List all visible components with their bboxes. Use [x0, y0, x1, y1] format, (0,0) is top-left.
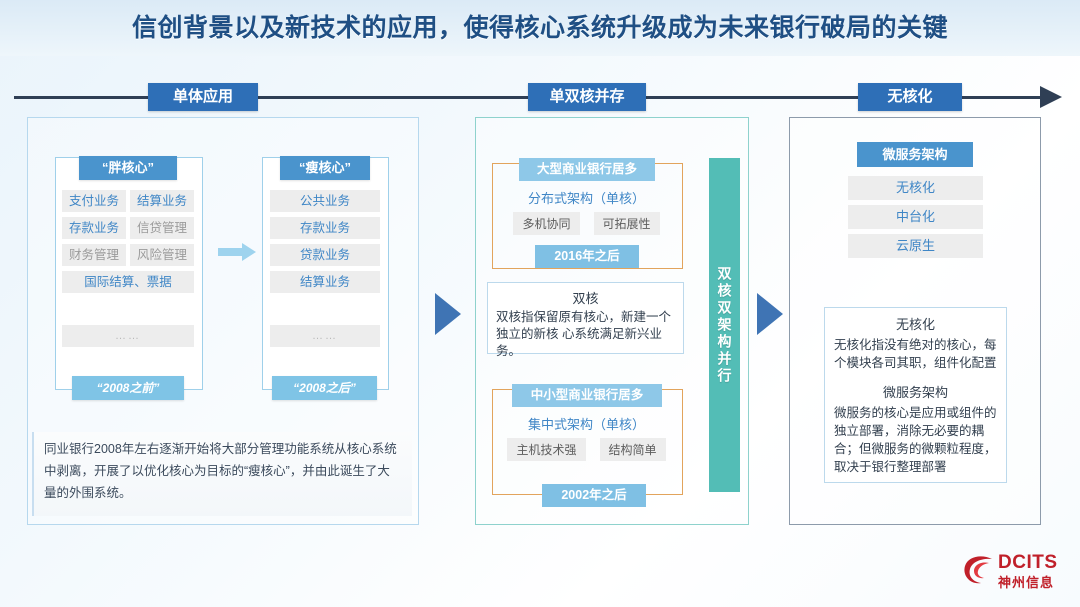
thin-core-header: “瘦核心” — [280, 156, 370, 180]
chip-item: 贷款业务 — [270, 244, 380, 266]
tag-item: 主机技术强 — [507, 438, 585, 461]
chip-item-empty — [270, 298, 380, 320]
chip-item: 信贷管理 — [130, 217, 194, 239]
stage-arrow-1-icon — [435, 293, 461, 335]
timeline-stage-0[interactable]: 单体应用 — [148, 83, 258, 111]
chip-item: 支付业务 — [62, 190, 126, 212]
large-bank-footer: 2016年之后 — [535, 245, 639, 268]
large-bank-tags: 多机协同 可拓展性 — [492, 212, 681, 235]
chip-item: 财务管理 — [62, 244, 126, 266]
microservice-header: 微服务架构 — [857, 142, 973, 167]
small-bank-footer: 2002年之后 — [542, 484, 646, 507]
chip-row — [62, 298, 194, 320]
chip-row: 国际结算、票据 — [62, 271, 194, 293]
logo-text-cn: 神州信息 — [998, 572, 1054, 591]
chip-row: 结算业务 — [270, 271, 380, 293]
chip-item: 结算业务 — [270, 271, 380, 293]
slide-root: 信创背景以及新技术的应用，使得核心系统升级成为未来银行破局的关键 单体应用 单双… — [0, 0, 1080, 607]
chip-item: 公共业务 — [270, 190, 380, 212]
chip-item: 风险管理 — [130, 244, 194, 266]
chip-row: …… — [270, 325, 380, 347]
panel-monolithic-caption: 同业银行2008年左右逐渐开始将大部分管理功能系统从核心系统中剥离，开展了以优化… — [32, 432, 412, 516]
chip-item-ellipsis: …… — [62, 325, 194, 347]
chip-row: 中台化 — [848, 205, 983, 229]
dcits-swirl-icon — [962, 553, 996, 587]
page-title: 信创背景以及新技术的应用，使得核心系统升级成为未来银行破局的关键 — [0, 8, 1080, 44]
chip-row: 云原生 — [848, 234, 983, 258]
fat-core-chip-list: 支付业务 结算业务 存款业务 信贷管理 财务管理 风险管理 国际结算、票据 …… — [62, 190, 194, 347]
chip-row: 存款业务 信贷管理 — [62, 217, 194, 239]
coreless-note: 无核化 无核化指没有绝对的核心，每个模块各司其职，组件化配置 微服务架构 微服务… — [824, 307, 1007, 483]
chip-row: 贷款业务 — [270, 244, 380, 266]
chip-row: …… — [62, 325, 194, 347]
small-bank-architecture: 集中式架构（单核） — [492, 414, 681, 433]
tag-item: 可拓展性 — [594, 212, 660, 235]
thin-core-footer: “2008之后” — [272, 376, 377, 400]
dual-core-note-title: 双核 — [496, 288, 675, 307]
coreless-note-body-2: 微服务的核心是应用或组件的独立部署，消除无必要的耦合；但微服务的微颗粒程度，取决… — [834, 404, 997, 476]
chip-item: 云原生 — [848, 234, 983, 258]
tag-item: 多机协同 — [513, 212, 579, 235]
large-bank-header: 大型商业银行居多 — [519, 158, 655, 181]
chip-row: 公共业务 — [270, 190, 380, 212]
coreless-note-title-2: 微服务架构 — [834, 382, 997, 401]
fat-core-header: “胖核心” — [79, 156, 177, 180]
chip-item: 国际结算、票据 — [62, 271, 194, 293]
timeline-stage-1[interactable]: 单双核并存 — [528, 83, 646, 111]
microservice-chip-list: 无核化 中台化 云原生 — [848, 176, 983, 258]
chip-item: 中台化 — [848, 205, 983, 229]
tag-item: 结构简单 — [600, 438, 666, 461]
stage-arrow-2-icon — [757, 293, 783, 335]
logo-text-en: DCITS — [998, 552, 1058, 574]
dual-core-vertical-bar: 双核双架构并行 — [709, 158, 740, 492]
chip-item-ellipsis: …… — [270, 325, 380, 347]
company-logo: DCITS 神州信息 — [962, 551, 1070, 593]
chip-row: 支付业务 结算业务 — [62, 190, 194, 212]
chip-item: 存款业务 — [62, 217, 126, 239]
coreless-note-title-1: 无核化 — [834, 314, 997, 333]
dual-core-note: 双核 双核指保留原有核心，新建一个独立的新核 心系统满足新兴业务。 — [487, 282, 684, 354]
thin-core-chip-list: 公共业务 存款业务 贷款业务 结算业务 …… — [270, 190, 380, 347]
large-bank-architecture: 分布式架构（单核） — [492, 188, 681, 207]
chip-item: 结算业务 — [130, 190, 194, 212]
coreless-note-body-1: 无核化指没有绝对的核心，每个模块各司其职，组件化配置 — [834, 336, 997, 372]
small-bank-header: 中小型商业银行居多 — [512, 384, 662, 407]
chip-row: 存款业务 — [270, 217, 380, 239]
timeline-arrow-icon — [1040, 86, 1062, 108]
chip-item-empty — [62, 298, 194, 320]
chip-item: 存款业务 — [270, 217, 380, 239]
timeline-stage-2[interactable]: 无核化 — [858, 83, 962, 111]
small-bank-tags: 主机技术强 结构简单 — [492, 438, 681, 461]
chip-item: 无核化 — [848, 176, 983, 200]
chip-row — [270, 298, 380, 320]
chip-row: 无核化 — [848, 176, 983, 200]
transition-arrow-icon — [218, 243, 256, 261]
fat-core-footer: “2008之前” — [72, 376, 184, 400]
chip-row: 财务管理 风险管理 — [62, 244, 194, 266]
dual-core-note-body: 双核指保留原有核心，新建一个独立的新核 心系统满足新兴业务。 — [496, 309, 675, 360]
